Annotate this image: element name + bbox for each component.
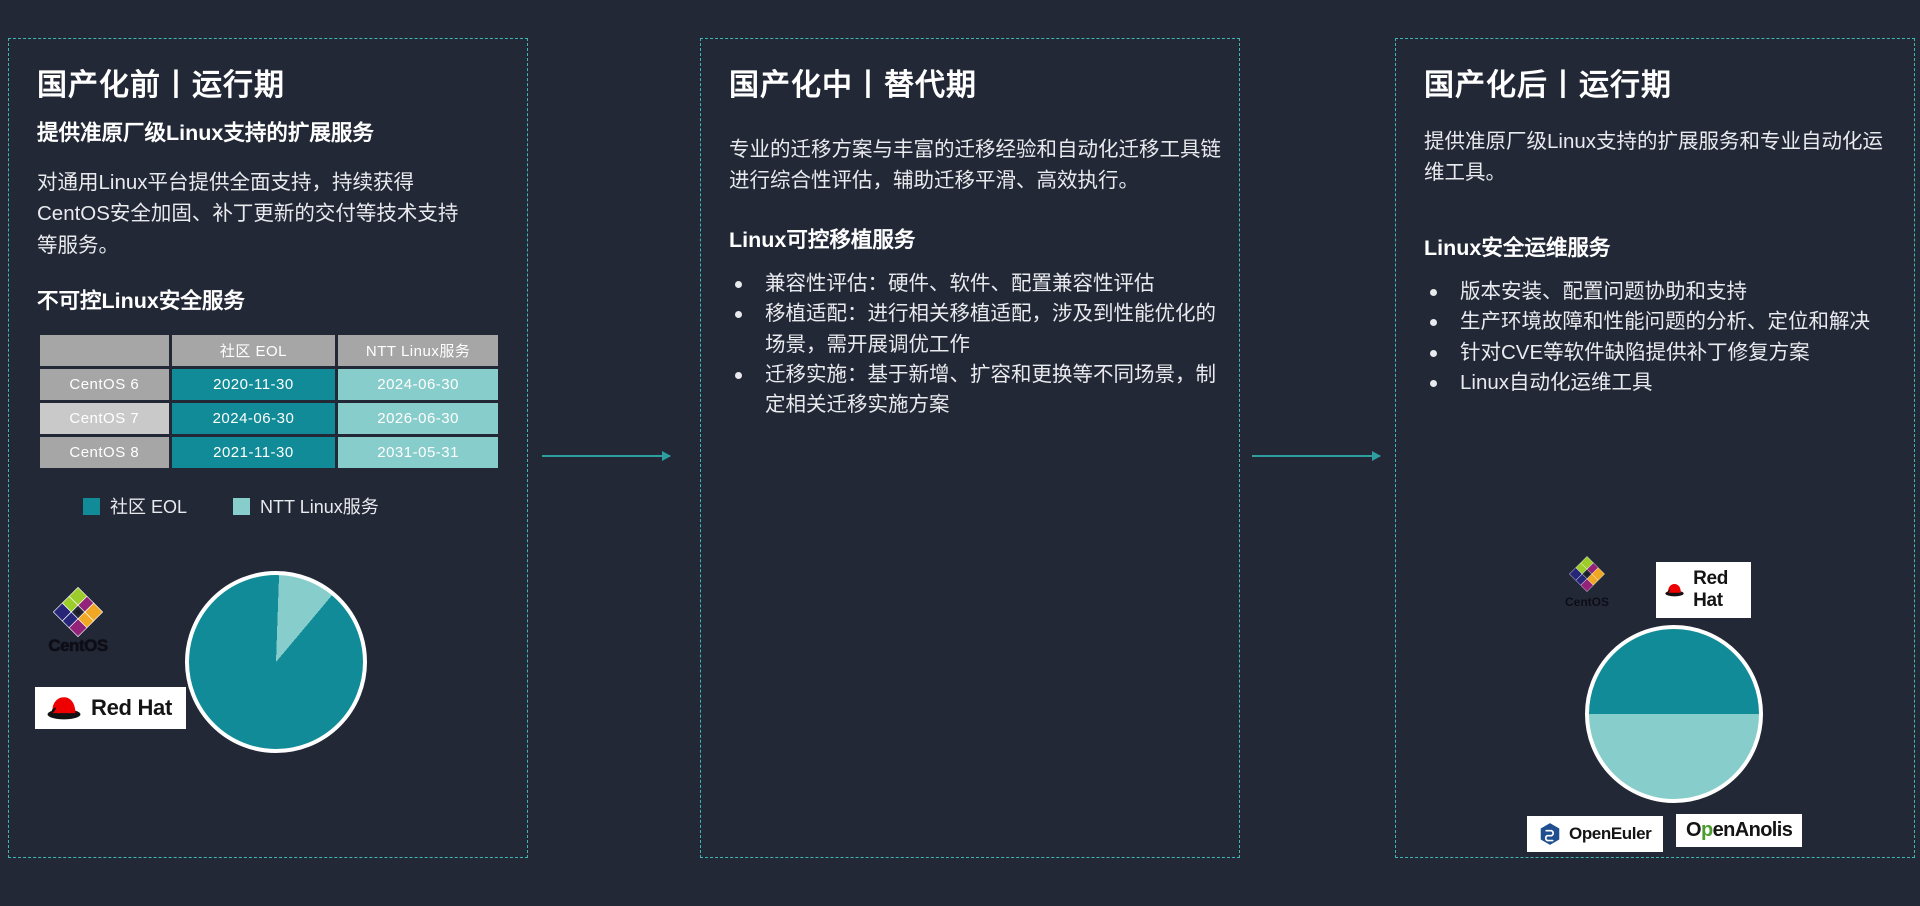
after-bullet-list: 版本安装、配置问题协助和支持 生产环境故障和性能问题的分析、定位和解决 针对CV… — [1424, 277, 1914, 398]
table-corner-cell — [40, 335, 169, 366]
table-cell-ntt: 2024-06-30 — [338, 369, 498, 400]
panel-after: 国产化后丨运行期 提供准原厂级Linux支持的扩展服务和专业自动化运维工具。 L… — [1395, 38, 1915, 858]
arrow-during-to-after-icon — [1252, 455, 1380, 457]
list-item: 针对CVE等软件缺陷提供补丁修复方案 — [1424, 338, 1914, 368]
table-cell-os: CentOS 6 — [40, 369, 169, 400]
table-row: CentOS 7 2024-06-30 2026-06-30 — [40, 403, 498, 434]
bullet-dot-icon — [735, 311, 742, 318]
list-item: 兼容性评估：硬件、软件、配置兼容性评估 — [729, 269, 1229, 299]
redhat-wordmark: Red Hat — [91, 695, 172, 721]
panel-after-title: 国产化后丨运行期 — [1424, 69, 1886, 104]
table-cell-os: CentOS 7 — [40, 403, 169, 434]
panel-during-body: 专业的迁移方案与丰富的迁移经验和自动化迁移工具链进行综合性评估，辅助迁移平滑、高… — [729, 134, 1229, 198]
panel-after-section-heading: Linux安全运维服务 — [1424, 233, 1886, 263]
logo-centos: CentOS — [47, 584, 109, 656]
eol-table: 社区 EOL NTT Linux服务 CentOS 6 2020-11-30 2… — [37, 332, 501, 471]
list-item: 生产环境故障和性能问题的分析、定位和解决 — [1424, 307, 1914, 337]
slide-canvas: 国产化前丨运行期 提供准原厂级Linux支持的扩展服务 对通用Linux平台提供… — [0, 0, 1920, 906]
panel-before-body: 对通用Linux平台提供全面支持，持续获得CentOS安全加固、补丁更新的交付等… — [37, 167, 467, 262]
table-cell-ntt: 2026-06-30 — [338, 403, 498, 434]
list-item: Linux自动化运维工具 — [1424, 368, 1914, 398]
table-cell-ntt: 2031-05-31 — [338, 437, 498, 468]
panel-after-body: 提供准原厂级Linux支持的扩展服务和专业自动化运维工具。 — [1424, 126, 1894, 190]
legend-item-eol: 社区 EOL — [83, 493, 187, 519]
centos-icon — [50, 584, 106, 640]
table-row: CentOS 6 2020-11-30 2024-06-30 — [40, 369, 498, 400]
chart-legend: 社区 EOL NTT Linux服务 — [37, 493, 499, 519]
table-cell-eol: 2020-11-30 — [172, 369, 336, 400]
pie-chart-before — [185, 571, 367, 753]
during-bullet-list: 兼容性评估：硬件、软件、配置兼容性评估 移植适配：进行相关移植适配，涉及到性能优… — [729, 269, 1229, 421]
bullet-dot-icon — [735, 281, 742, 288]
table-cell-eol: 2021-11-30 — [172, 437, 336, 468]
table-header-ntt: NTT Linux服务 — [338, 335, 498, 366]
legend-item-ntt: NTT Linux服务 — [233, 493, 379, 519]
panel-before-title: 国产化前丨运行期 — [37, 69, 499, 104]
table-header-row: 社区 EOL NTT Linux服务 — [40, 335, 498, 366]
table-cell-os: CentOS 8 — [40, 437, 169, 468]
list-item: 移植适配：进行相关移植适配，涉及到性能优化的场景，需开展调优工作 — [729, 299, 1229, 360]
list-item: 迁移实施：基于新增、扩容和更换等不同场景，制定相关迁移实施方案 — [729, 360, 1229, 421]
panel-before: 国产化前丨运行期 提供准原厂级Linux支持的扩展服务 对通用Linux平台提供… — [8, 38, 528, 858]
redhat-fedora-icon — [45, 694, 83, 722]
panel-during-section-heading: Linux可控移植服务 — [729, 225, 1211, 255]
bullet-dot-icon — [735, 372, 742, 379]
bullet-dot-icon — [1430, 380, 1437, 387]
legend-label: 社区 EOL — [110, 493, 187, 519]
legend-swatch-icon — [233, 498, 250, 515]
arrow-before-to-during-icon — [542, 455, 670, 457]
panel-during: 国产化中丨替代期 专业的迁移方案与丰富的迁移经验和自动化迁移工具链进行综合性评估… — [700, 38, 1240, 858]
table-header-eol: 社区 EOL — [172, 335, 336, 366]
list-item-text: Linux自动化运维工具 — [1460, 371, 1653, 394]
bullet-dot-icon — [1430, 319, 1437, 326]
table-cell-eol: 2024-06-30 — [172, 403, 336, 434]
list-item-text: 兼容性评估：硬件、软件、配置兼容性评估 — [765, 272, 1155, 295]
logo-redhat: Red Hat — [35, 687, 186, 729]
list-item-text: 迁移实施：基于新增、扩容和更换等不同场景，制定相关迁移实施方案 — [765, 363, 1216, 416]
panel-during-title: 国产化中丨替代期 — [729, 69, 1211, 104]
list-item-text: 移植适配：进行相关移植适配，涉及到性能优化的场景，需开展调优工作 — [765, 302, 1216, 355]
bullet-dot-icon — [1430, 350, 1437, 357]
panel-before-section-heading: 不可控Linux安全服务 — [37, 286, 499, 316]
legend-swatch-icon — [83, 498, 100, 515]
panel-before-subtitle: 提供准原厂级Linux支持的扩展服务 — [37, 118, 499, 149]
table-row: CentOS 8 2021-11-30 2031-05-31 — [40, 437, 498, 468]
list-item-text: 生产环境故障和性能问题的分析、定位和解决 — [1460, 310, 1870, 333]
bullet-dot-icon — [1430, 289, 1437, 296]
centos-wordmark: CentOS — [47, 636, 109, 656]
list-item: 版本安装、配置问题协助和支持 — [1424, 277, 1914, 307]
list-item-text: 版本安装、配置问题协助和支持 — [1460, 280, 1747, 303]
list-item-text: 针对CVE等软件缺陷提供补丁修复方案 — [1460, 341, 1810, 364]
legend-label: NTT Linux服务 — [260, 493, 379, 519]
